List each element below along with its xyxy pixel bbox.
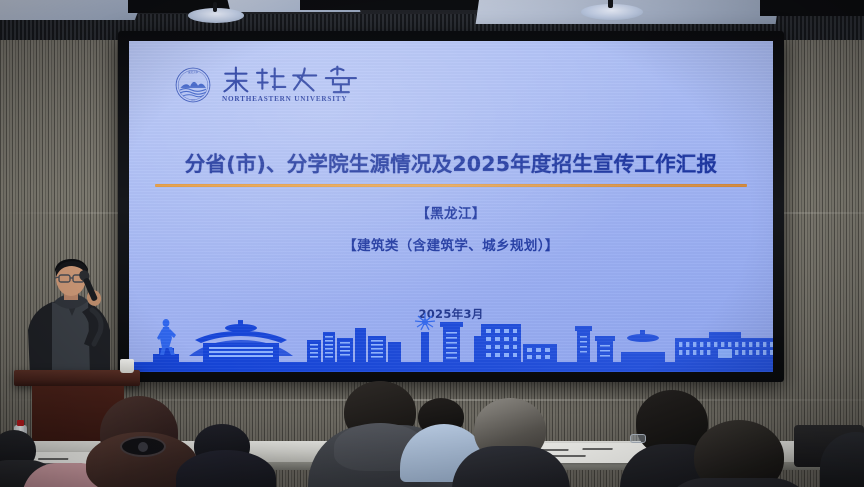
slide-subtitle-major: 【建筑类（含建筑学、城乡规划）】 [129,234,773,254]
logo-english-name: NORTHEASTERN UNIVERSITY [220,95,368,103]
hair-clip-center [138,442,148,452]
eyeglasses-icon [630,434,646,443]
audience-member [456,398,566,487]
audience-member [820,432,864,487]
audience-member [168,424,288,487]
slide-title-block: 分省(市)、分学院生源情况及2025年度招生宣传工作汇报 【黑龙江】 【建筑类（… [129,147,773,254]
presenter-figure [18,258,126,376]
neu-seal-icon: 東北大學 1923 [175,67,211,103]
torso [660,478,816,487]
title-underline [155,184,747,187]
ceiling-recess-right [760,0,864,16]
presentation-slide[interactable]: 東北大學 1923 [129,41,773,372]
logo-chinese-calligraphy-icon [220,64,368,94]
audience-member-foreground [664,420,810,487]
paper-cup [120,359,134,373]
ceiling-light-stem [213,2,217,12]
slide-main-title: 分省(市)、分学院生源情况及2025年度招生宣传工作汇报 [129,147,773,177]
logo-wordmark: NORTHEASTERN UNIVERSITY [220,64,368,103]
head [694,420,784,487]
svg-text:1923: 1923 [191,100,195,102]
ceiling-light-stem-2 [608,0,613,8]
ceiling-panel-left [0,0,145,20]
paper-line [582,448,612,450]
hooded-jacket [176,450,276,487]
city-skyline-illustration [129,310,773,372]
projection-screen-frame: 東北大學 1923 [118,31,784,382]
slide-subtitle-province: 【黑龙江】 [129,202,773,222]
torso [820,432,864,487]
presentation-room-photo: 東北大學 1923 [0,0,864,487]
university-logo: 東北大學 1923 [175,64,368,103]
bottle-cap [17,420,24,426]
torso [452,446,570,487]
